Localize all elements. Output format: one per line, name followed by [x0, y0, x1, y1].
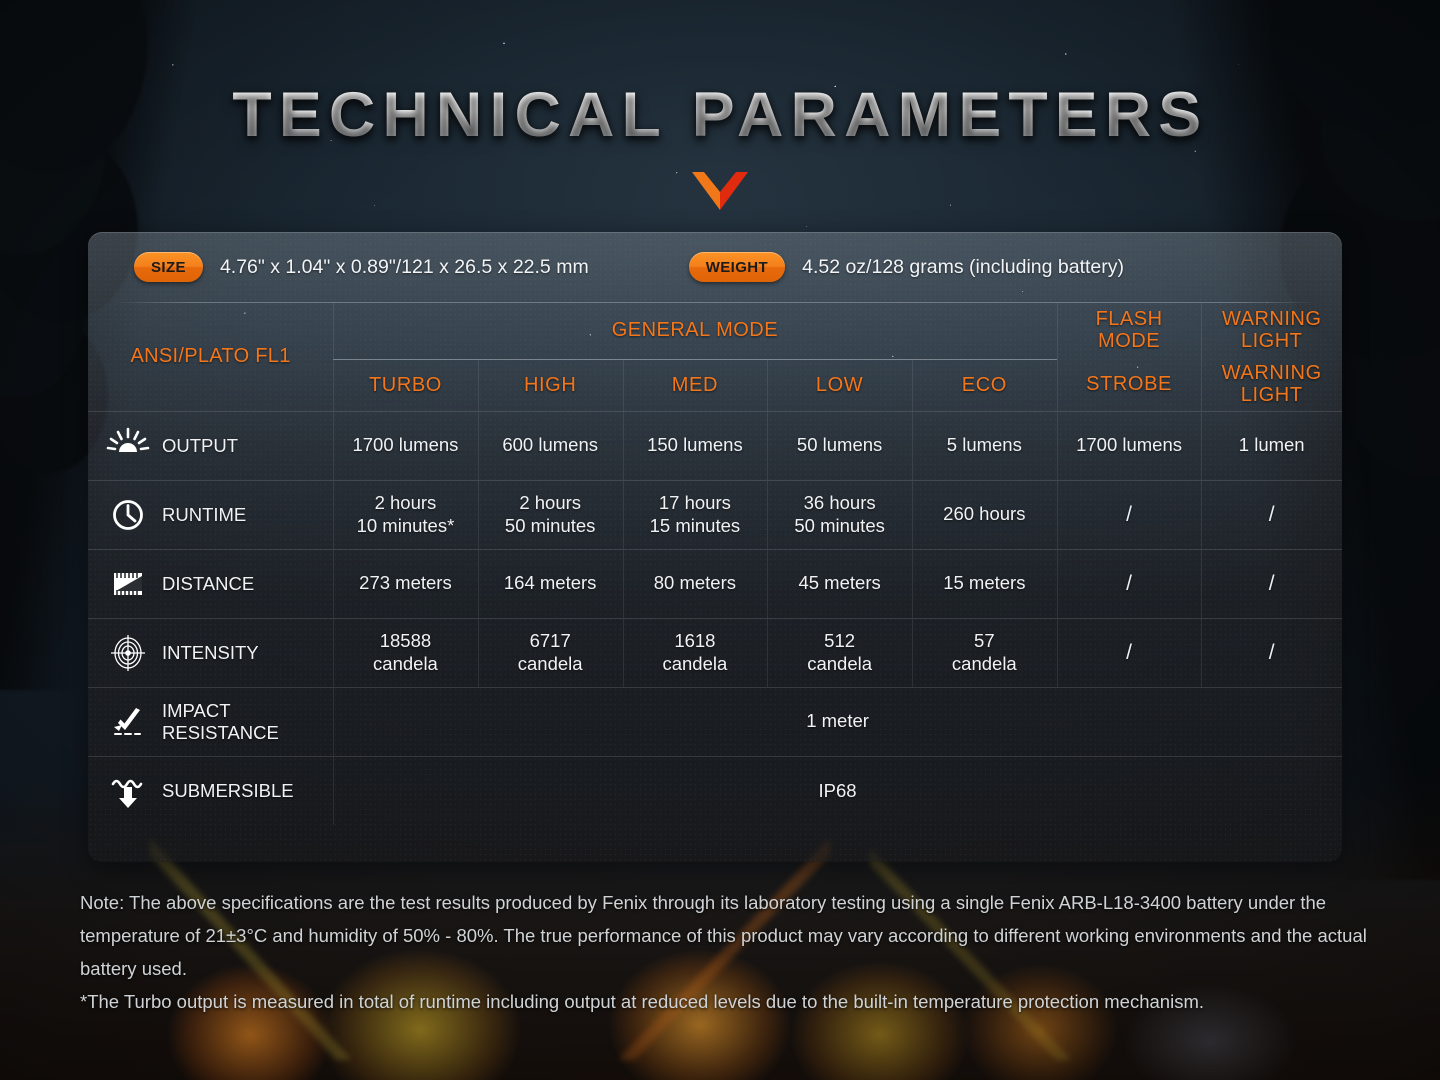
row-header-distance: DISTANCE — [88, 549, 333, 618]
mode-header-warning-light-line1: WARNING — [1222, 362, 1322, 384]
mode-header-turbo: TURBO — [333, 359, 478, 411]
cell-output-med: 150 lumens — [623, 411, 768, 480]
technical-parameters-page: TECHNICAL PARAMETERS SIZE 4.76" x 1.04" … — [0, 0, 1440, 1080]
cell-distance-eco: 15 meters — [912, 549, 1057, 618]
row-label-impact-resistance: IMPACTRESISTANCE — [162, 700, 279, 744]
cell-intensity-eco-value: 57 — [974, 630, 995, 651]
cell-runtime-low: 36 hours 50 minutes — [767, 480, 912, 549]
cell-runtime-turbo-line1: 2 hours — [375, 492, 437, 513]
cell-distance-low: 45 meters — [767, 549, 912, 618]
cell-intensity-high-unit: candela — [518, 653, 583, 674]
cell-output-warning: 1 lumen — [1201, 411, 1342, 480]
cell-distance-high: 164 meters — [478, 549, 623, 618]
cell-intensity-high: 6717 candela — [478, 618, 623, 687]
row-label-output: OUTPUT — [162, 435, 238, 457]
mode-header-strobe: STROBE — [1057, 359, 1202, 411]
group-header-general-mode: GENERAL MODE — [333, 303, 1057, 359]
table-row: RUNTIME 2 hours 10 minutes* 2 hours 50 m… — [88, 480, 1342, 549]
row-header-runtime: RUNTIME — [88, 480, 333, 549]
cell-runtime-med-line2: 15 minutes — [650, 515, 741, 536]
table-row: INTENSITY 18588 candela 6717 candela 161… — [88, 618, 1342, 687]
parameters-table: ANSI/PLATO FL1 GENERAL MODE FLASH MODE W… — [88, 303, 1342, 825]
beam-distance-icon — [106, 565, 150, 603]
cell-intensity-turbo-value: 18588 — [380, 630, 431, 651]
cell-runtime-med: 17 hours 15 minutes — [623, 480, 768, 549]
cell-intensity-turbo-unit: candela — [373, 653, 438, 674]
table-row: SUBMERSIBLE IP68 — [88, 756, 1342, 825]
spec-panel: SIZE 4.76" x 1.04" x 0.89"/121 x 26.5 x … — [88, 232, 1342, 862]
cell-runtime-turbo: 2 hours 10 minutes* — [333, 480, 478, 549]
cell-intensity-strobe: / — [1057, 618, 1202, 687]
size-spec: SIZE 4.76" x 1.04" x 0.89"/121 x 26.5 x … — [134, 252, 589, 282]
submersible-icon — [106, 772, 150, 810]
cell-runtime-warning: / — [1201, 480, 1342, 549]
page-title: TECHNICAL PARAMETERS — [232, 84, 1208, 147]
group-header-warning-light-line2: LIGHT — [1241, 330, 1302, 352]
size-badge: SIZE — [134, 252, 203, 282]
mode-header-med: MED — [623, 359, 768, 411]
footnote-line-1: Note: The above specifications are the t… — [80, 886, 1370, 985]
cell-output-eco: 5 lumens — [912, 411, 1057, 480]
cell-runtime-strobe: / — [1057, 480, 1202, 549]
cell-distance-turbo: 273 meters — [333, 549, 478, 618]
mode-header-eco: ECO — [912, 359, 1057, 411]
row-label-submersible: SUBMERSIBLE — [162, 780, 294, 802]
cell-intensity-med-unit: candela — [662, 653, 727, 674]
row-header-submersible: SUBMERSIBLE — [88, 756, 333, 825]
weight-spec: WEIGHT 4.52 oz/128 grams (including batt… — [689, 252, 1124, 282]
group-header-flash-mode: FLASH MODE — [1057, 303, 1202, 359]
cell-intensity-turbo: 18588 candela — [333, 618, 478, 687]
footnote-line-2: *The Turbo output is measured in total o… — [80, 985, 1370, 1018]
group-header-warning-light: WARNING LIGHT — [1201, 303, 1342, 359]
cell-distance-med: 80 meters — [623, 549, 768, 618]
cell-runtime-turbo-line2: 10 minutes* — [357, 515, 455, 536]
row-label-runtime: RUNTIME — [162, 504, 246, 526]
cell-output-turbo: 1700 lumens — [333, 411, 478, 480]
size-value: 4.76" x 1.04" x 0.89"/121 x 26.5 x 22.5 … — [220, 256, 589, 279]
mode-header-warning-light-line2: LIGHT — [1241, 384, 1303, 406]
cell-distance-warning: / — [1201, 549, 1342, 618]
group-header-flash-mode-line2: MODE — [1098, 330, 1160, 352]
table-row: IMPACTRESISTANCE 1 meter — [88, 687, 1342, 756]
cell-impact-resistance-value: 1 meter — [333, 687, 1342, 756]
sunburst-icon — [106, 427, 150, 465]
table-group-header-row: ANSI/PLATO FL1 GENERAL MODE FLASH MODE W… — [88, 303, 1342, 359]
cell-intensity-med-value: 1618 — [674, 630, 715, 651]
table-row: OUTPUT 1700 lumens 600 lumens 150 lumens… — [88, 411, 1342, 480]
impact-resistance-icon — [106, 703, 150, 741]
cell-intensity-low-unit: candela — [807, 653, 872, 674]
cell-distance-strobe: / — [1057, 549, 1202, 618]
cell-output-low: 50 lumens — [767, 411, 912, 480]
page-title-wrap: TECHNICAL PARAMETERS — [0, 84, 1440, 147]
cell-runtime-low-line2: 50 minutes — [794, 515, 885, 536]
row-header-output: OUTPUT — [88, 411, 333, 480]
ansi-plato-label: ANSI/PLATO FL1 — [88, 303, 333, 411]
mode-header-high: HIGH — [478, 359, 623, 411]
cell-intensity-med: 1618 candela — [623, 618, 768, 687]
cell-runtime-eco: 260 hours — [912, 480, 1057, 549]
cell-intensity-eco: 57 candela — [912, 618, 1057, 687]
cell-output-high: 600 lumens — [478, 411, 623, 480]
row-label-distance: DISTANCE — [162, 573, 254, 595]
clock-icon — [106, 496, 150, 534]
cell-intensity-low: 512 candela — [767, 618, 912, 687]
row-label-intensity: INTENSITY — [162, 642, 259, 664]
weight-badge: WEIGHT — [689, 252, 785, 282]
cell-intensity-low-value: 512 — [824, 630, 855, 651]
group-header-flash-mode-line1: FLASH — [1096, 308, 1163, 330]
target-intensity-icon — [106, 634, 150, 672]
row-header-intensity: INTENSITY — [88, 618, 333, 687]
cell-runtime-high-line1: 2 hours — [519, 492, 581, 513]
cell-intensity-high-value: 6717 — [530, 630, 571, 651]
row-header-impact-resistance: IMPACTRESISTANCE — [88, 687, 333, 756]
cell-runtime-high: 2 hours 50 minutes — [478, 480, 623, 549]
cell-intensity-eco-unit: candela — [952, 653, 1017, 674]
cell-output-strobe: 1700 lumens — [1057, 411, 1202, 480]
cell-intensity-warning: / — [1201, 618, 1342, 687]
size-weight-row: SIZE 4.76" x 1.04" x 0.89"/121 x 26.5 x … — [88, 232, 1342, 302]
table-row: DISTANCE 273 meters 164 meters 80 meters… — [88, 549, 1342, 618]
cell-runtime-med-line1: 17 hours — [659, 492, 731, 513]
footnote: Note: The above specifications are the t… — [80, 886, 1370, 1018]
cell-runtime-high-line2: 50 minutes — [505, 515, 596, 536]
group-header-warning-light-line1: WARNING — [1222, 308, 1321, 330]
cell-runtime-low-line1: 36 hours — [804, 492, 876, 513]
cell-submersible-value: IP68 — [333, 756, 1342, 825]
chevron-down-icon — [692, 172, 748, 210]
mode-header-warning-light: WARNING LIGHT — [1201, 359, 1342, 411]
weight-value: 4.52 oz/128 grams (including battery) — [802, 256, 1124, 279]
mode-header-low: LOW — [767, 359, 912, 411]
